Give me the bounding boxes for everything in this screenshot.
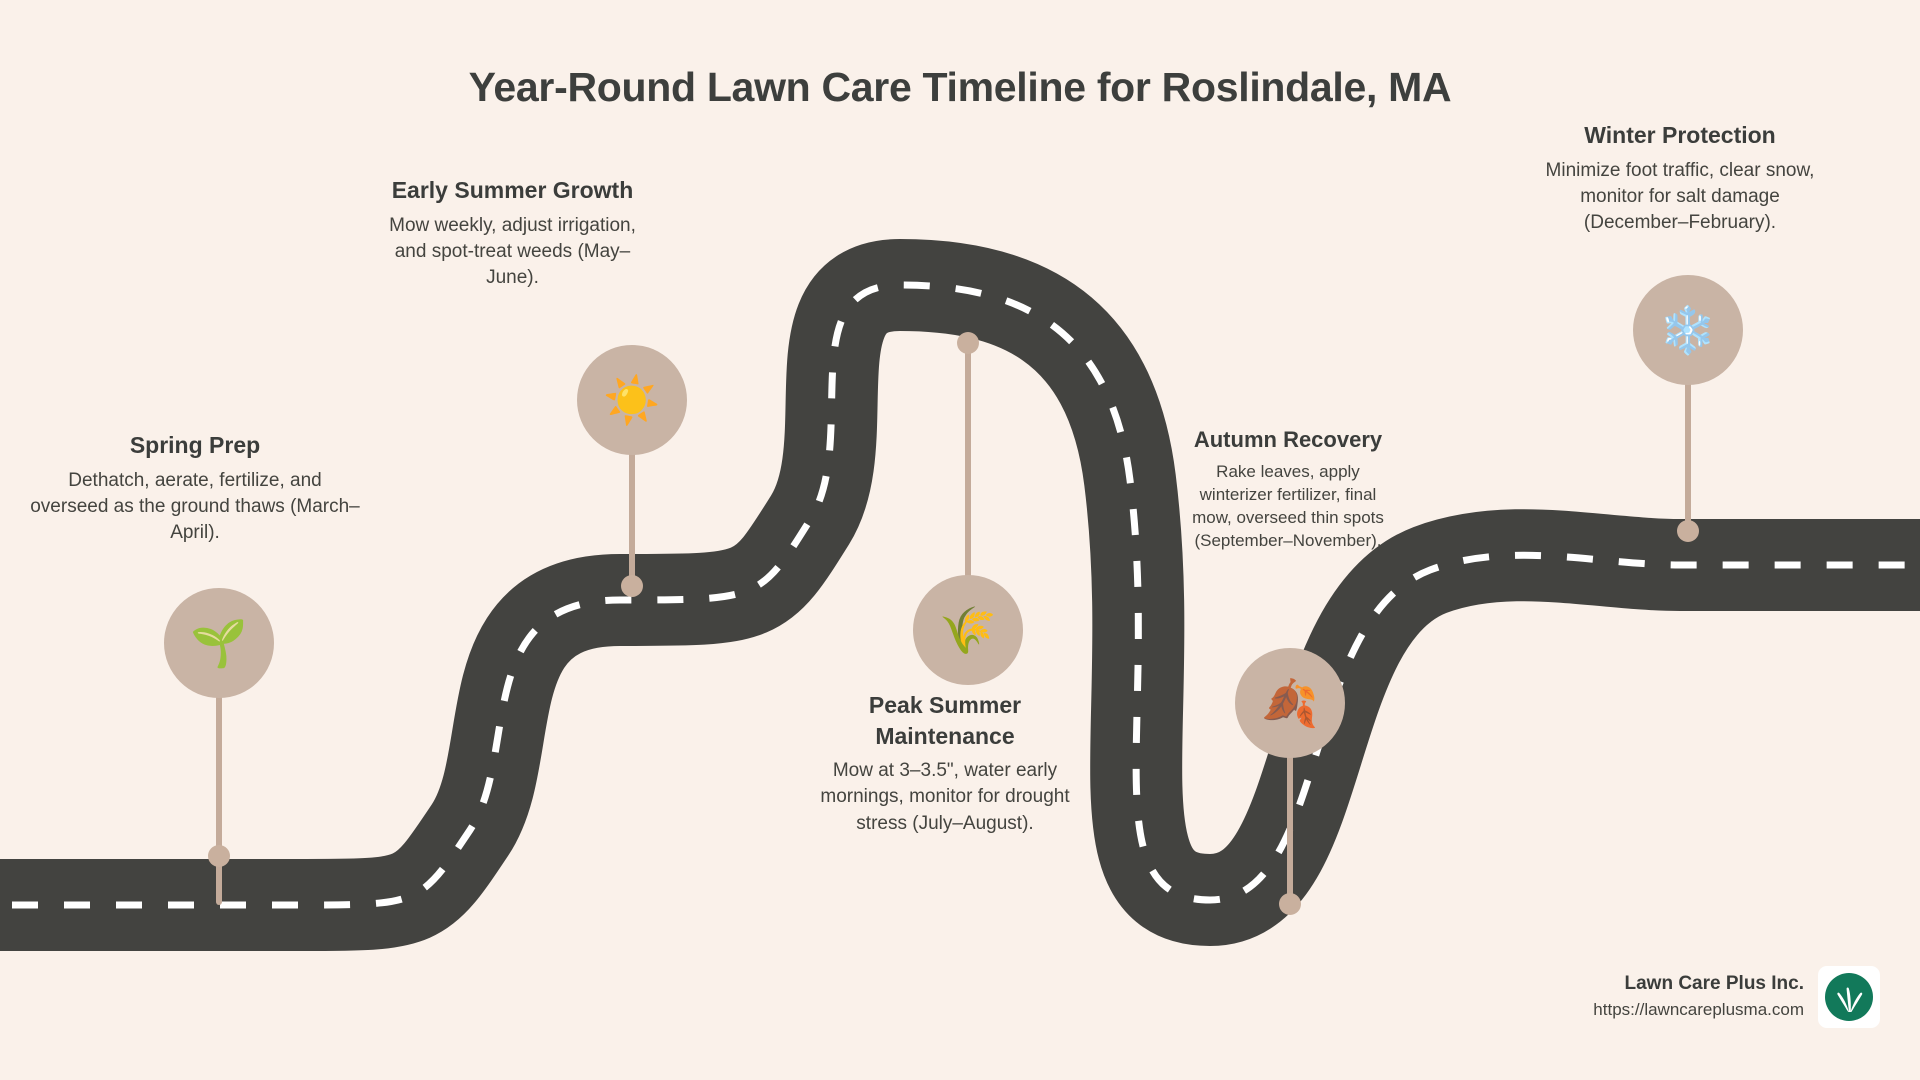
milestone-title: Spring Prep: [30, 430, 360, 461]
milestone-text-spring-prep: Spring Prep Dethatch, aerate, fertilize,…: [30, 430, 360, 546]
milestone-icon-circle[interactable]: ❄️: [1633, 275, 1743, 385]
company-name: Lawn Care Plus Inc.: [1593, 971, 1804, 997]
page-title: Year-Round Lawn Care Timeline for Roslin…: [0, 64, 1920, 111]
milestone-icon-circle[interactable]: ☀️: [577, 345, 687, 455]
sun-icon: ☀️: [603, 377, 660, 423]
milestone-body: Mow weekly, adjust irrigation, and spot-…: [380, 213, 645, 292]
milestone-title: Early Summer Growth: [380, 175, 645, 206]
milestone-text-autumn-recovery: Autumn Recovery Rake leaves, apply winte…: [1178, 425, 1398, 553]
milestone-icon-circle[interactable]: 🌱: [164, 588, 274, 698]
milestone-text-peak-summer-maintenance: Peak Summer Maintenance Mow at 3–3.5", w…: [800, 690, 1090, 837]
seedling-icon: 🌱: [190, 620, 247, 666]
milestone-stem-dot: [208, 845, 230, 867]
milestone-icon-circle[interactable]: 🍂: [1235, 648, 1345, 758]
milestone-icon-circle[interactable]: 🌾: [913, 575, 1023, 685]
brand-text: Lawn Care Plus Inc. https://lawncareplus…: [1593, 971, 1804, 1022]
brand-footer: Lawn Care Plus Inc. https://lawncareplus…: [1593, 966, 1880, 1028]
milestone-title: Winter Protection: [1530, 120, 1830, 151]
milestone-stem-dot: [957, 332, 979, 354]
grass-logo-icon: [1818, 966, 1880, 1028]
milestone-title: Autumn Recovery: [1178, 425, 1398, 454]
infographic-canvas: Year-Round Lawn Care Timeline for Roslin…: [0, 0, 1920, 1080]
fallen-leaf-icon: 🍂: [1261, 680, 1318, 726]
milestone-body: Mow at 3–3.5", water early mornings, mon…: [800, 758, 1090, 837]
wheat-icon: 🌾: [939, 607, 996, 653]
company-url[interactable]: https://lawncareplusma.com: [1593, 997, 1804, 1023]
milestone-body: Minimize foot traffic, clear snow, monit…: [1530, 158, 1830, 237]
milestone-stem-dot: [1279, 893, 1301, 915]
milestone-stem-dot: [621, 575, 643, 597]
milestone-title: Peak Summer Maintenance: [800, 690, 1090, 751]
milestone-stem: [965, 345, 971, 595]
milestone-body: Rake leaves, apply winterizer fertilizer…: [1178, 461, 1398, 553]
milestone-body: Dethatch, aerate, fertilize, and oversee…: [30, 468, 360, 547]
milestone-stem-dot: [1677, 520, 1699, 542]
snowflake-icon: ❄️: [1659, 307, 1716, 353]
milestone-text-early-summer-growth: Early Summer Growth Mow weekly, adjust i…: [380, 175, 645, 291]
milestone-text-winter-protection: Winter Protection Minimize foot traffic,…: [1530, 120, 1830, 236]
